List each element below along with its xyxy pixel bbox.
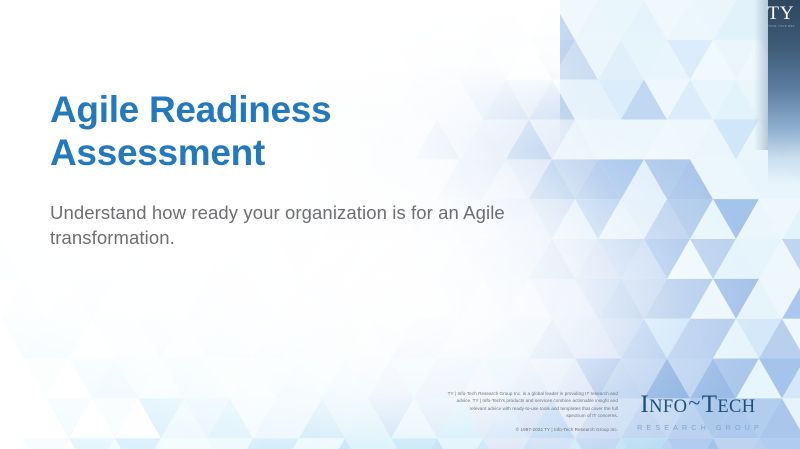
slide-canvas: TY THINK YOUR WAY Agile Readiness Assess…: [0, 0, 800, 449]
copyright-notice: © 1997-2022 TY | Info-Tech Research Grou…: [370, 426, 618, 433]
ty-badge-mark: TY: [766, 4, 796, 24]
logo-text-ech: ECH: [717, 397, 755, 417]
page-title: Agile Readiness Assessment: [50, 88, 520, 174]
disclaimer-line-3: relevant advice with ready-to-use tools …: [370, 405, 618, 412]
logo-tagline: RESEARCH GROUP: [618, 423, 778, 432]
info-tech-logo: INFO~TECH RESEARCH GROUP: [618, 391, 778, 432]
disclaimer-line-4: spectrum of IT concerns.: [370, 412, 618, 419]
ty-brand-badge: TY THINK YOUR WAY: [766, 4, 796, 29]
logo-text-nfo: NFO: [649, 397, 687, 417]
disclaimer-line-2: advice. TY | Info-Tech's products and se…: [370, 397, 618, 404]
disclaimer-line-1: TY | Info-Tech Research Group Inc. is a …: [370, 390, 618, 397]
logo-letter-i: I: [640, 391, 649, 418]
logo-wordmark: INFO~TECH: [618, 391, 778, 421]
headline-block: Agile Readiness Assessment Understand ho…: [50, 88, 520, 250]
ty-badge-subtext: THINK YOUR WAY: [766, 24, 796, 29]
page-subtitle: Understand how ready your organization i…: [50, 200, 520, 250]
logo-letter-t: T: [702, 391, 718, 418]
footer-disclaimer: TY | Info-Tech Research Group Inc. is a …: [370, 390, 618, 433]
logo-tilde-icon: ~: [687, 390, 701, 415]
